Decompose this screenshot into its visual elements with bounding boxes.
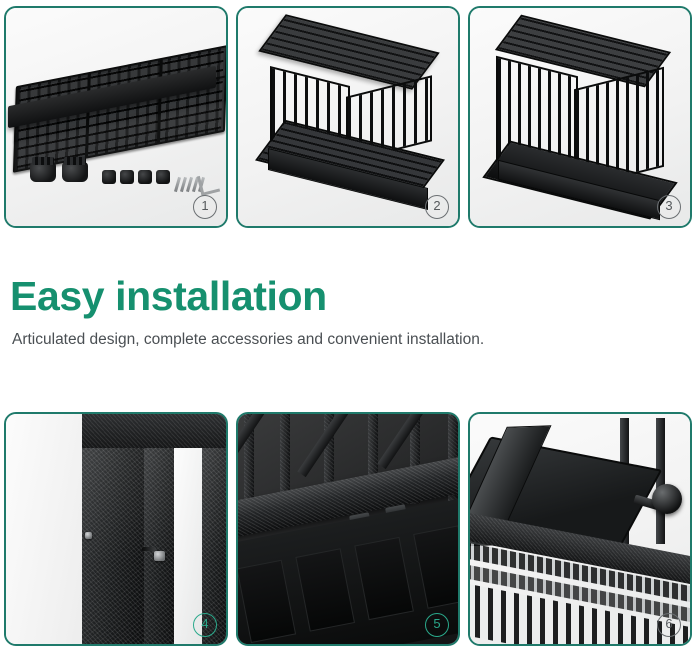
- page-title: Easy installation: [10, 272, 686, 320]
- allen-key-icon: [197, 172, 220, 196]
- step-panel-3[interactable]: 3: [468, 6, 692, 228]
- steps-row-bottom: 4: [0, 412, 696, 646]
- step-4-photo: [6, 414, 226, 644]
- step-panel-2[interactable]: 2: [236, 6, 460, 228]
- step-badge-2: 2: [425, 195, 449, 219]
- step-badge-6: 6: [657, 613, 681, 637]
- caster-wheel-icon: [30, 162, 56, 182]
- cage-cell: [295, 548, 355, 631]
- step-5-photo: [238, 414, 458, 644]
- cage-cell: [236, 560, 296, 643]
- wheel-foot-icon: [120, 170, 134, 184]
- bolt-head-icon: [154, 551, 165, 561]
- cage-cell: [413, 525, 460, 608]
- step-2-photo: [238, 8, 458, 226]
- step-panel-5[interactable]: 5: [236, 412, 460, 646]
- caster-wheel-icon: [652, 484, 682, 514]
- page-subtitle: Articulated design, complete accessories…: [12, 330, 686, 350]
- headline-block: Easy installation Articulated design, co…: [10, 272, 686, 350]
- wheel-foot-icon: [138, 170, 152, 184]
- installation-infographic: 1 2 3: [0, 0, 696, 650]
- wheel-foot-icon: [102, 170, 116, 184]
- studio-backdrop: [6, 414, 84, 644]
- bolt-head-icon: [85, 532, 92, 539]
- step-badge-5: 5: [425, 613, 449, 637]
- top-rail: [82, 412, 228, 448]
- steps-row-top: 1 2 3: [0, 6, 696, 228]
- step-panel-1[interactable]: 1: [4, 6, 228, 228]
- step-badge-3: 3: [657, 195, 681, 219]
- cage-cell: [354, 537, 414, 620]
- caster-wheel-icon: [62, 162, 88, 182]
- frame-upright: [656, 418, 665, 544]
- step-3-photo: [470, 8, 690, 226]
- step-6-photo: [470, 414, 690, 644]
- wheel-foot-icon: [156, 170, 170, 184]
- step-panel-6[interactable]: 6: [468, 412, 692, 646]
- step-badge-4: 4: [193, 613, 217, 637]
- hardware-accessories: [30, 148, 220, 196]
- step-1-photo: [6, 8, 226, 226]
- step-badge-1: 1: [193, 195, 217, 219]
- step-panel-4[interactable]: 4: [4, 412, 228, 646]
